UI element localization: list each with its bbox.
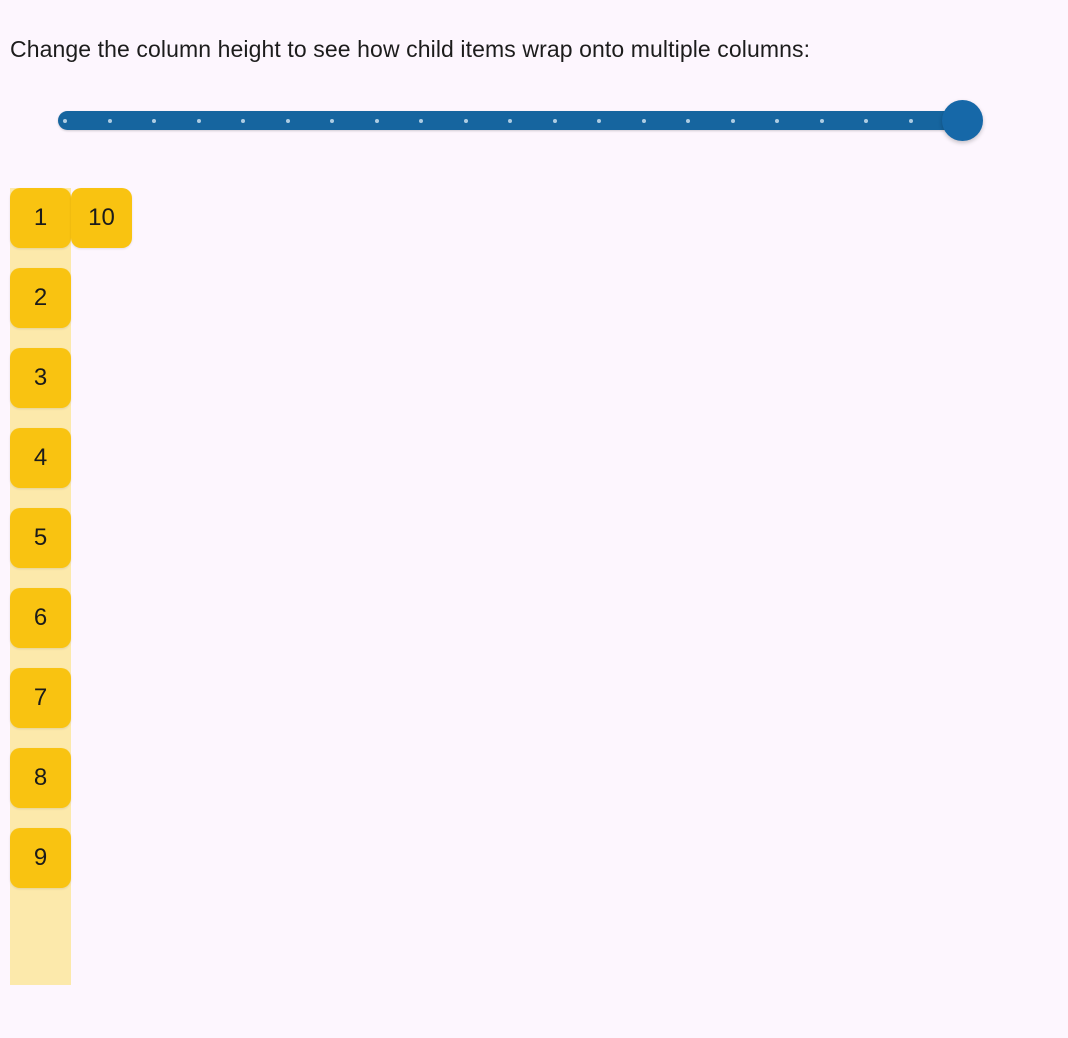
column-height-slider[interactable] xyxy=(58,100,982,142)
flex-item-label: 7 xyxy=(34,686,47,710)
flex-item: 3 xyxy=(10,348,71,408)
slider-track[interactable] xyxy=(58,111,962,130)
flex-item-label: 5 xyxy=(34,526,47,550)
flex-item-label: 8 xyxy=(34,766,47,790)
flex-item-label: 4 xyxy=(34,446,47,470)
flex-item-label: 1 xyxy=(34,206,47,230)
flex-item-label: 10 xyxy=(88,206,115,230)
flex-item-label: 6 xyxy=(34,606,47,630)
flex-item: 4 xyxy=(10,428,71,488)
flex-item: 2 xyxy=(10,268,71,328)
page-title: Change the column height to see how chil… xyxy=(10,33,810,65)
wrapping-column-container: 12345678910 xyxy=(10,188,71,985)
flex-item: 1 xyxy=(10,188,71,248)
flex-item-label: 9 xyxy=(34,846,47,870)
flex-item: 10 xyxy=(71,188,132,248)
flex-item: 8 xyxy=(10,748,71,808)
flex-item-label: 2 xyxy=(34,286,47,310)
flex-item-label: 3 xyxy=(34,366,47,390)
flex-item: 6 xyxy=(10,588,71,648)
flex-item: 9 xyxy=(10,828,71,888)
flex-item: 7 xyxy=(10,668,71,728)
slider-thumb[interactable] xyxy=(942,100,983,141)
flex-item: 5 xyxy=(10,508,71,568)
